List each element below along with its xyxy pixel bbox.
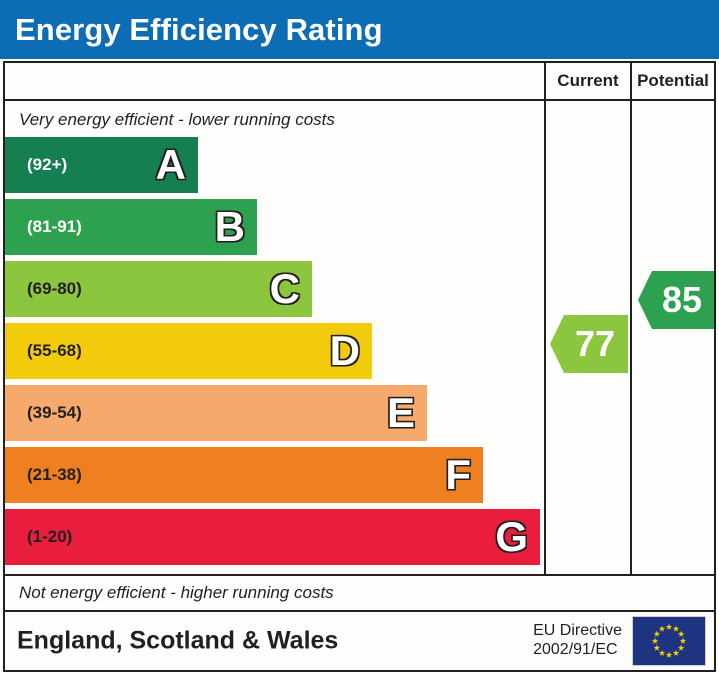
band-g: (1-20)G — [5, 509, 540, 565]
footer-directive-line1: EU Directive — [533, 622, 622, 641]
eu-star — [654, 645, 660, 651]
eu-star — [673, 650, 679, 656]
caption-efficient: Very energy efficient - lower running co… — [5, 101, 544, 138]
band-c: (69-80)C — [5, 261, 312, 317]
eu-star — [678, 645, 684, 651]
potential-rating-value: 85 — [662, 279, 702, 321]
band-list: (92+)A(81-91)B(69-80)C(55-68)D(39-54)E(2… — [5, 137, 544, 574]
footer-directive: EU Directive 2002/91/EC — [533, 622, 622, 660]
band-range-b: (81-91) — [27, 217, 82, 237]
band-b: (81-91)B — [5, 199, 257, 255]
chart-title-bar: Energy Efficiency Rating — [0, 0, 719, 59]
eu-star — [666, 624, 672, 630]
band-a: (92+)A — [5, 137, 198, 193]
band-letter-a: A — [156, 144, 186, 186]
eu-star — [680, 638, 686, 644]
column-divider-1 — [544, 101, 546, 574]
band-range-e: (39-54) — [27, 403, 82, 423]
eu-star — [659, 650, 665, 656]
band-letter-c: C — [270, 268, 300, 310]
footer-region-label: England, Scotland & Wales — [17, 627, 338, 656]
rating-table: Current Potential Very energy efficient … — [3, 61, 716, 612]
band-letter-e: E — [387, 392, 415, 434]
eu-star — [673, 625, 679, 631]
column-header-potential-label: Potential — [637, 71, 709, 91]
caption-not-efficient: Not energy efficient - higher running co… — [5, 574, 544, 611]
eu-star — [666, 652, 672, 658]
eu-star — [678, 631, 684, 637]
footer-directive-line2: 2002/91/EC — [533, 641, 622, 660]
eu-flag-icon — [632, 616, 706, 666]
current-rating-value: 77 — [575, 323, 615, 365]
potential-rating-arrow: 85 — [638, 271, 714, 329]
column-header-current: Current — [544, 63, 630, 99]
eu-star — [659, 625, 665, 631]
page-title: Energy Efficiency Rating — [15, 12, 383, 48]
column-divider-2 — [630, 101, 632, 574]
band-range-a: (92+) — [27, 155, 67, 175]
current-rating-arrow: 77 — [550, 315, 628, 373]
band-e: (39-54)E — [5, 385, 427, 441]
table-header-row: Current Potential — [5, 63, 714, 101]
band-letter-b: B — [215, 206, 245, 248]
eu-flag-stars — [633, 617, 705, 665]
band-letter-f: F — [445, 454, 471, 496]
eu-star — [652, 638, 658, 644]
band-letter-d: D — [330, 330, 360, 372]
band-range-f: (21-38) — [27, 465, 82, 485]
band-range-g: (1-20) — [27, 527, 72, 547]
band-f: (21-38)F — [5, 447, 483, 503]
band-range-d: (55-68) — [27, 341, 82, 361]
column-header-current-label: Current — [557, 71, 618, 91]
column-header-potential: Potential — [630, 63, 714, 99]
chart-footer: England, Scotland & Wales EU Directive 2… — [3, 612, 716, 672]
band-letter-g: G — [495, 516, 528, 558]
energy-efficiency-rating-chart: Energy Efficiency Rating Current Potenti… — [0, 0, 719, 675]
eu-star — [654, 631, 660, 637]
band-range-c: (69-80) — [27, 279, 82, 299]
band-d: (55-68)D — [5, 323, 372, 379]
